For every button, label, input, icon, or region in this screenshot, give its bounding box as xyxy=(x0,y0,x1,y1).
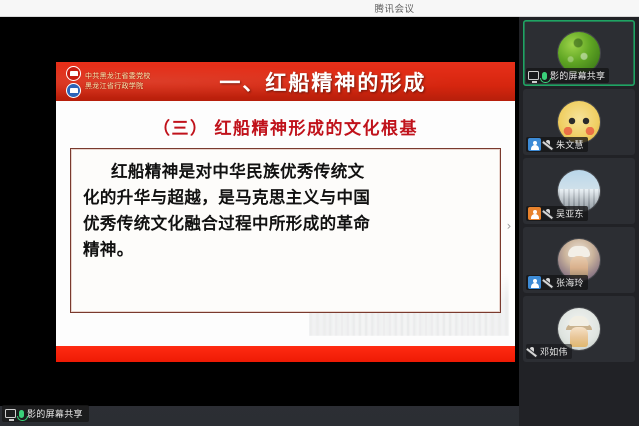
microphone-muted-icon xyxy=(544,140,553,150)
organization-name: 中共黑龙江省委党校 黑龙江省行政学院 xyxy=(85,72,151,91)
meeting-window: 腾讯会议 中共黑龙江省委党校 xyxy=(0,0,639,426)
participant-label: 影的屏幕共享 xyxy=(526,68,609,83)
slide-footer-band xyxy=(56,346,515,362)
window-titlebar: 腾讯会议 xyxy=(0,0,639,17)
shared-screen-content: 中共黑龙江省委党校 黑龙江省行政学院 一、红船精神的形成 （三）红船精神形成的文… xyxy=(0,17,519,406)
microphone-icon xyxy=(542,72,547,80)
slide-header-title: 一、红船精神的形成 xyxy=(151,67,495,97)
emblem-group xyxy=(66,66,81,98)
participant-video-rail: 影的屏幕共享 朱文慧 吴亚东 张海玲 xyxy=(519,17,639,426)
slide-body-textbox: 红船精神是对中华民族优秀传统文 化的升华与超越，是马克思主义与中国 优秀传统文化… xyxy=(70,148,501,313)
participant-tile[interactable]: 朱文慧 xyxy=(523,89,635,155)
screen-share-status-badge: 影的屏幕共享 xyxy=(2,405,89,422)
slide-body-line: 精神。 xyxy=(83,237,488,263)
screen-share-icon xyxy=(5,409,16,418)
microphone-muted-icon xyxy=(544,209,553,219)
microphone-muted-icon xyxy=(528,347,537,357)
participant-name: 张海玲 xyxy=(556,276,584,289)
letterbox-left xyxy=(0,17,56,406)
participant-tile[interactable]: 张海玲 xyxy=(523,227,635,293)
person-icon xyxy=(528,138,541,151)
person-icon xyxy=(528,276,541,289)
presentation-slide: 中共黑龙江省委党校 黑龙江省行政学院 一、红船精神的形成 （三）红船精神形成的文… xyxy=(56,62,515,362)
slide-body-line: 优秀传统文化融合过程中所形成的革命 xyxy=(83,211,488,237)
participant-tile[interactable]: 邓如伟 xyxy=(523,296,635,362)
screen-share-status-label: 影的屏幕共享 xyxy=(27,407,83,420)
slide-subtitle: （三）红船精神形成的文化根基 xyxy=(56,114,515,139)
administration-college-emblem-icon xyxy=(66,83,81,98)
screen-share-icon xyxy=(528,71,539,80)
participant-tile[interactable]: 吴亚东 xyxy=(523,158,635,224)
slide-subtitle-paren: （三） xyxy=(153,119,209,139)
participant-name: 吴亚东 xyxy=(556,207,584,220)
participant-label: 邓如伟 xyxy=(526,344,572,359)
expand-panel-chevron-right-icon[interactable]: › xyxy=(502,211,516,241)
participant-name: 邓如伟 xyxy=(540,345,568,358)
participant-name: 影的屏幕共享 xyxy=(550,69,605,82)
slide-header-band: 中共黑龙江省委党校 黑龙江省行政学院 一、红船精神的形成 xyxy=(56,62,515,101)
org-line-1: 中共黑龙江省委党校 xyxy=(85,72,151,81)
participant-name: 朱文慧 xyxy=(556,138,584,151)
slide-subtitle-text: 红船精神形成的文化根基 xyxy=(215,119,419,139)
organization-logo: 中共黑龙江省委党校 黑龙江省行政学院 xyxy=(66,66,151,98)
participant-label: 张海玲 xyxy=(526,275,588,290)
participant-tile[interactable]: 影的屏幕共享 xyxy=(523,20,635,86)
microphone-icon xyxy=(19,410,24,418)
slide-body-line: 化的升华与超越，是马克思主义与中国 xyxy=(83,185,488,211)
party-school-emblem-icon xyxy=(66,66,81,81)
participant-label: 朱文慧 xyxy=(526,137,588,152)
app-title: 腾讯会议 xyxy=(374,1,414,15)
participant-label: 吴亚东 xyxy=(526,206,588,221)
org-line-2: 黑龙江省行政学院 xyxy=(85,82,151,91)
shared-screen-stage[interactable]: 中共黑龙江省委党校 黑龙江省行政学院 一、红船精神的形成 （三）红船精神形成的文… xyxy=(0,17,519,426)
microphone-muted-icon xyxy=(544,278,553,288)
slide-body-line: 红船精神是对中华民族优秀传统文 xyxy=(83,159,488,185)
person-icon xyxy=(528,207,541,220)
